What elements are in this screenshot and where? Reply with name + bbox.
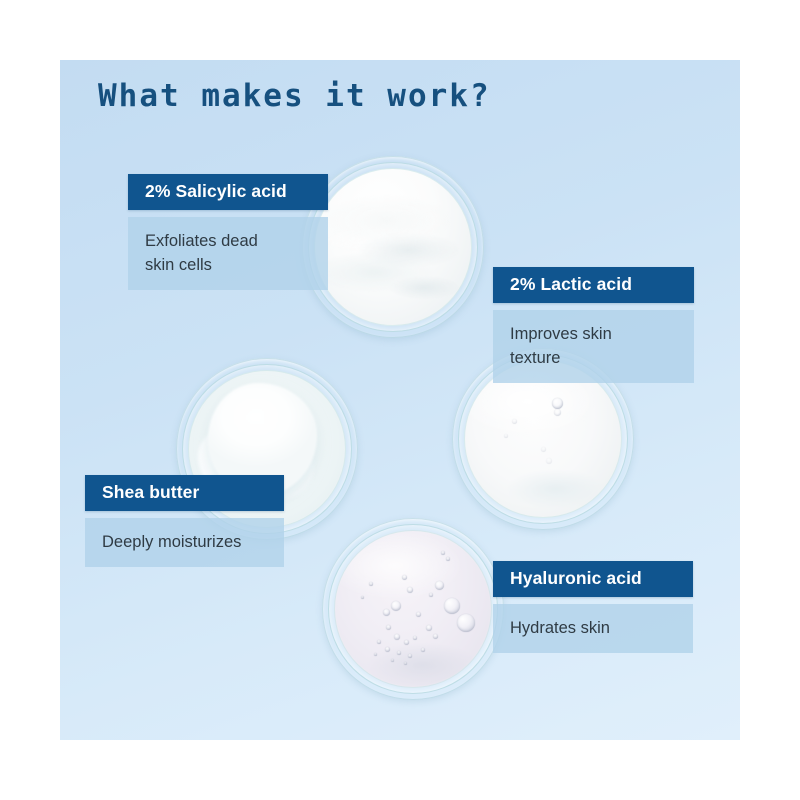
ingredient-benefit-lactic: Improves skin texture: [493, 310, 694, 383]
petri-dish-salicylic-powder: [302, 156, 484, 338]
ingredient-label-salicylic[interactable]: 2% Salicylic acid Exfoliates dead skin c…: [128, 174, 328, 290]
ingredient-label-hyaluronic[interactable]: Hyaluronic acid Hydrates skin: [493, 561, 693, 653]
ingredient-benefit-hyaluronic: Hydrates skin: [493, 604, 693, 653]
ingredient-label-shea[interactable]: Shea butter Deeply moisturizes: [85, 475, 284, 567]
ingredient-name-lactic: 2% Lactic acid: [493, 267, 694, 303]
page-title: What makes it work?: [98, 78, 491, 114]
dish-rim: [302, 156, 484, 338]
dish-rim: [322, 518, 504, 700]
petri-dish-hyaluronic-gel: [322, 518, 504, 700]
ingredient-name-hyaluronic: Hyaluronic acid: [493, 561, 693, 597]
ingredient-name-shea: Shea butter: [85, 475, 284, 511]
ingredient-label-lactic[interactable]: 2% Lactic acid Improves skin texture: [493, 267, 694, 383]
ingredient-benefit-shea: Deeply moisturizes: [85, 518, 284, 567]
ingredient-benefit-salicylic: Exfoliates dead skin cells: [128, 217, 328, 290]
infographic-canvas: What makes it work?: [0, 0, 800, 800]
ingredient-name-salicylic: 2% Salicylic acid: [128, 174, 328, 210]
